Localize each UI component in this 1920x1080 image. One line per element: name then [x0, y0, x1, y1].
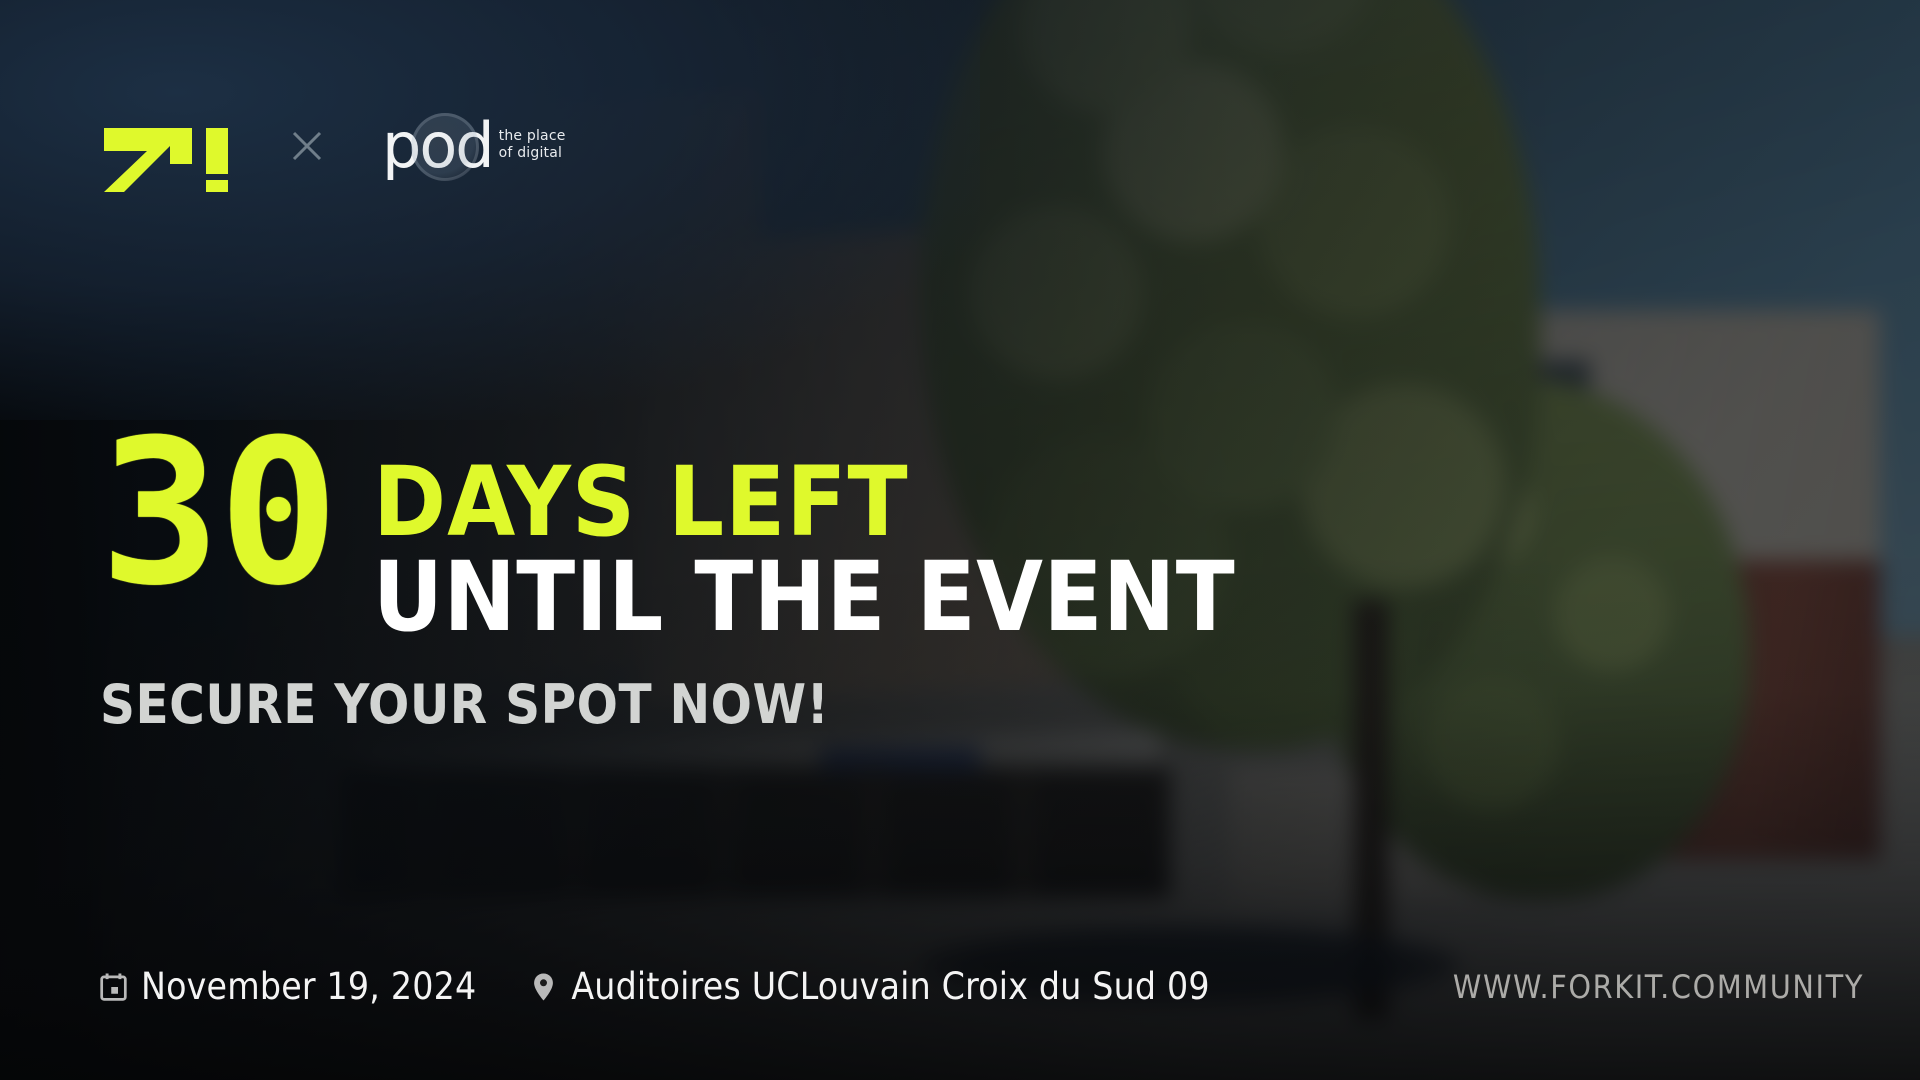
- countdown-number: 30: [100, 436, 337, 592]
- event-date: November 19, 2024: [100, 965, 476, 1008]
- countdown-unit-label: DAYS LEFT: [373, 458, 1253, 546]
- pod-tagline-line2: of digital: [499, 145, 566, 162]
- map-pin-icon: [530, 972, 557, 1002]
- calendar-icon: [100, 972, 127, 1002]
- pod-wordmark-text: pod: [382, 122, 493, 170]
- footer-bar: November 19, 2024 Auditoires UCLouvain C…: [100, 965, 1864, 1008]
- headline-lines: DAYS LEFT UNTIL THE EVENT: [373, 458, 1235, 644]
- event-venue: Auditoires UCLouvain Croix du Sud 09: [530, 965, 1209, 1008]
- pod-tagline-line1: the place: [499, 128, 566, 145]
- pod-tagline: the place of digital: [499, 128, 566, 162]
- call-to-action-text: SECURE YOUR SPOT NOW!: [100, 678, 1235, 732]
- event-countdown-banner: pod the place of digital 30 DAYS LEFT UN…: [0, 0, 1920, 1080]
- event-meta-group: November 19, 2024 Auditoires UCLouvain C…: [100, 965, 1210, 1008]
- overlay-topleft-glow: [0, 0, 980, 420]
- event-venue-text: Auditoires UCLouvain Croix du Sud 09: [571, 965, 1209, 1008]
- headline-block: 30 DAYS LEFT UNTIL THE EVENT SECURE YOUR…: [100, 452, 1235, 732]
- cross-separator-icon: [290, 129, 324, 163]
- forkit-arrow-logo-icon[interactable]: [100, 100, 232, 192]
- website-url[interactable]: WWW.FORKIT.COMMUNITY: [1453, 968, 1864, 1006]
- headline-second-line: UNTIL THE EVENT: [373, 550, 1235, 644]
- logo-lockup: pod the place of digital: [100, 100, 566, 192]
- event-date-text: November 19, 2024: [141, 965, 476, 1008]
- pod-ring-icon: [411, 113, 479, 181]
- pod-partner-logo[interactable]: pod the place of digital: [382, 122, 566, 170]
- countdown-row: 30 DAYS LEFT UNTIL THE EVENT: [100, 452, 1235, 644]
